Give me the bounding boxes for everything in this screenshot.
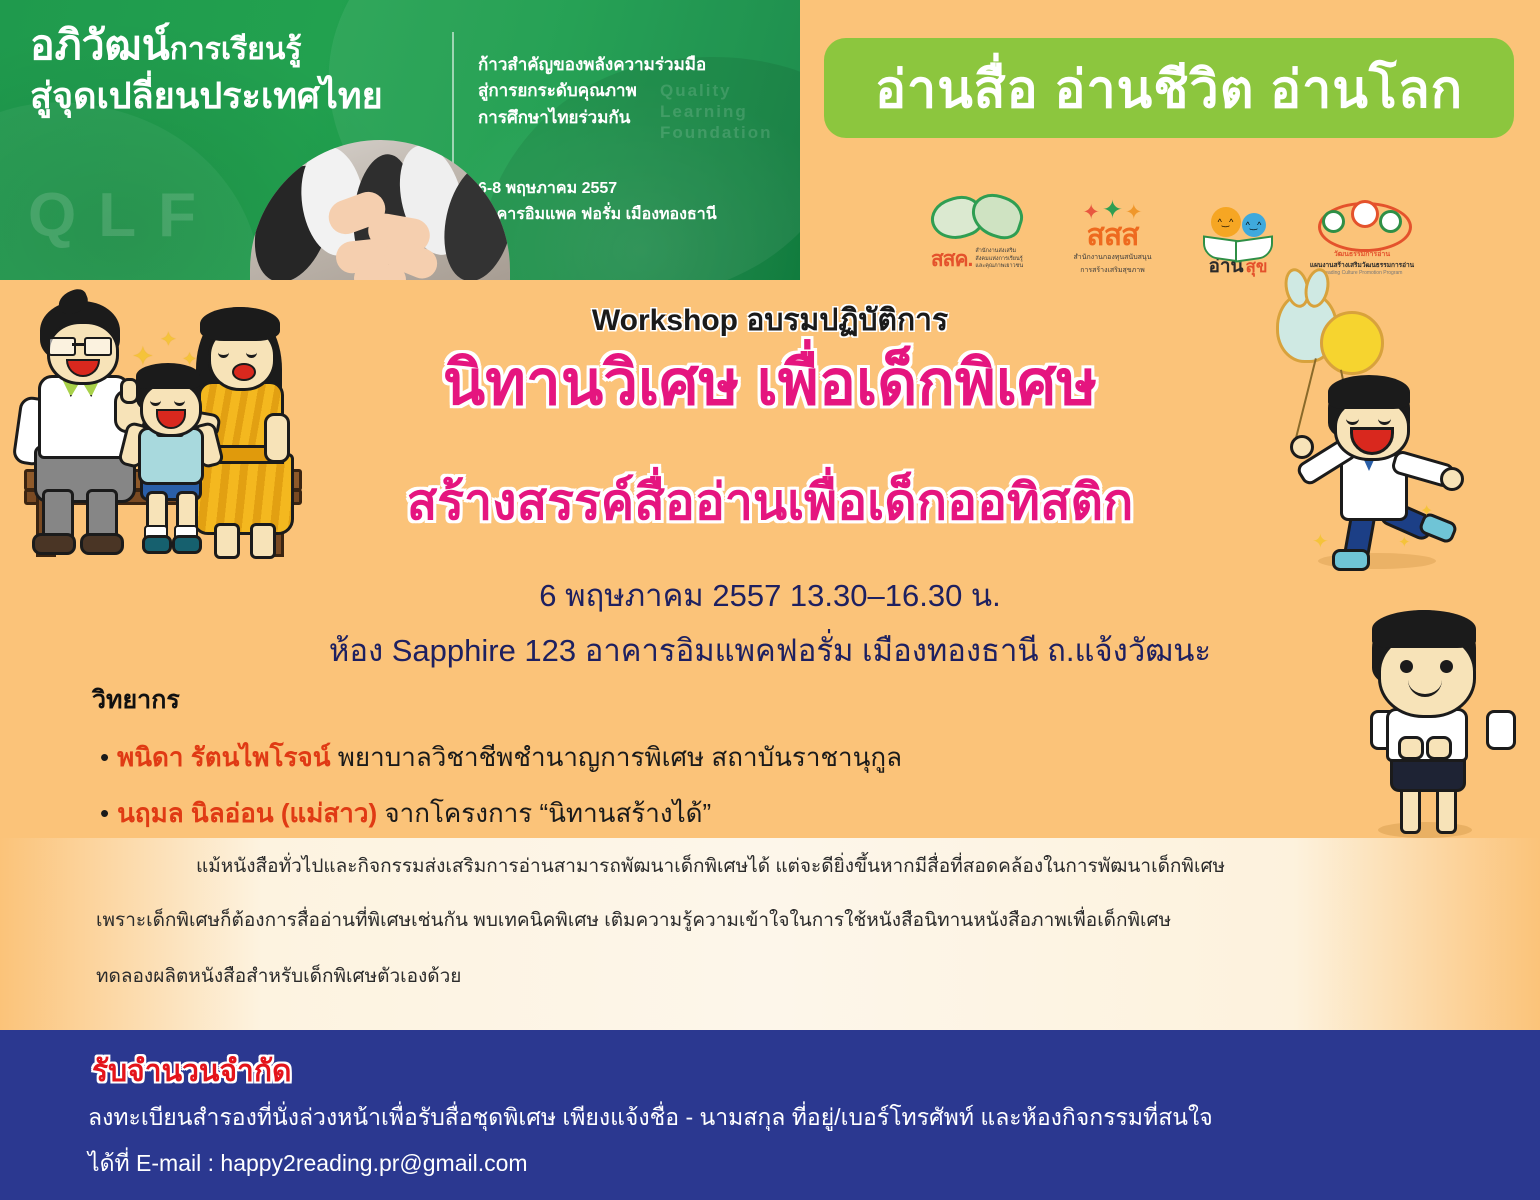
banner-title-line1-bold: อภิวัฒน์ xyxy=(30,22,170,68)
speaker-item: •นฤมล นิลอ่อน (แม่สาว) จากโครงการ “นิทาน… xyxy=(100,793,711,834)
banner-subtitle-block: ก้าวสำคัญของพลังความร่วมมือ สู่การยกระดั… xyxy=(478,52,706,131)
speaker-name: พนิดา รัตนไพโรจน์ xyxy=(117,742,330,772)
description-panel: แม้หนังสือทั่วไปและกิจกรรมส่งเสริมการอ่า… xyxy=(0,838,1540,1030)
description-line-2: เพราะเด็กพิเศษก็ต้องการสื่ออ่านที่พิเศษเ… xyxy=(96,910,1171,933)
registration-email-line[interactable]: ได้ที่ E-mail : happy2reading.pr@gmail.c… xyxy=(88,1146,528,1182)
banner-divider xyxy=(452,32,454,164)
banner-subtitle-line2: สู่การยกระดับคุณภาพ xyxy=(478,78,706,104)
banner-date-block: 6-8 พฤษภาคม 2557 อาคารอิมแพค ฟอรั่ม เมือ… xyxy=(478,176,717,227)
banner-subtitle-line3: การศึกษาไทยร่วมกัน xyxy=(478,105,706,131)
open-book-icon xyxy=(1203,238,1273,256)
banner-title-line1: อภิวัฒน์การเรียนรู้ xyxy=(30,20,450,71)
banner-title-line1-rest: การเรียนรู้ xyxy=(170,33,302,66)
banner-title-block: อภิวัฒน์การเรียนรู้ สู่จุดเปลี่ยนประเทศไ… xyxy=(30,20,450,118)
speaker-name: นฤมล นิลอ่อน (แม่สาว) xyxy=(117,798,377,828)
qlf-watermark-big: QLF xyxy=(28,180,218,251)
event-green-banner: QLF QualityLearningFoundation QualityLea… xyxy=(0,0,800,280)
logo-sss-abbr: สสส xyxy=(1055,221,1170,251)
logo-sasak: สสค. สำนักงานส่งเสริมสังคมแห่งการเรียนรู… xyxy=(918,193,1036,276)
page-title: นิทานวิเศษ เพื่อเด็กพิเศษ xyxy=(0,350,1540,418)
registration-footer: รับจำนวนจำกัด ลงทะเบียนสำรองที่นั่งล่วงห… xyxy=(0,1030,1540,1200)
logo-sasak-text: สำนักงานส่งเสริมสังคมแห่งการเรียนรู้และค… xyxy=(975,248,1023,272)
page-subtitle: สร้างสรรค์สื่ออ่านเพื่อเด็กออทิสติก xyxy=(0,475,1540,530)
sparkle-icon: ✦ xyxy=(1398,533,1411,551)
limited-seats-heading: รับจำนวนจำกัด xyxy=(92,1048,292,1095)
sun-flower-icon: ^‿^ ^‿^ xyxy=(1189,205,1287,237)
speaker-item: •พนิดา รัตนไพโรจน์ พยาบาลวิชาชีพชำนาญการ… xyxy=(100,737,902,778)
partner-logos-row: สสค. สำนักงานส่งเสริมสังคมแห่งการเรียนรู… xyxy=(918,168,1418,276)
speakers-heading: วิทยากร xyxy=(92,680,180,720)
banner-date: 6-8 พฤษภาคม 2557 xyxy=(478,176,717,202)
sparkle-icon: ✦ xyxy=(1312,529,1329,554)
banner-venue: อาคารอิมแพค ฟอรั่ม เมืองทองธานี xyxy=(478,202,717,228)
logo-sss-line1: สำนักงานกองทุนสนับสนุน xyxy=(1055,253,1170,264)
registration-instructions-line1: ลงทะเบียนสำรองที่นั่งล่วงหน้าเพื่อรับสื่… xyxy=(88,1100,1213,1136)
butterfly-icon xyxy=(931,193,1023,241)
description-line-1: แม้หนังสือทั่วไปและกิจกรรมส่งเสริมการอ่า… xyxy=(196,856,1225,879)
slogan-text: อ่านสื่อ อ่านชีวิต อ่านโลก xyxy=(875,47,1463,130)
banner-subtitle-line1: ก้าวสำคัญของพลังความร่วมมือ xyxy=(478,52,706,78)
slogan-banner: อ่านสื่อ อ่านชีวิต อ่านโลก xyxy=(824,38,1514,138)
family-reading-icon xyxy=(1314,198,1410,248)
logo-sasak-abbr: สสค. xyxy=(931,243,973,276)
bullet-icon: • xyxy=(100,798,109,828)
speaker-role: พยาบาลวิชาชีพชำนาญการพิเศษ สถาบันราชานุก… xyxy=(338,742,902,772)
bullet-icon: • xyxy=(100,742,109,772)
event-venue: ห้อง Sapphire 123 อาคารอิมแพคฟอรั่ม เมือ… xyxy=(0,625,1540,675)
header-region: QLF QualityLearningFoundation QualityLea… xyxy=(0,0,1540,285)
event-datetime: 6 พฤษภาคม 2557 13.30–16.30 น. xyxy=(0,570,1540,620)
logo-sss-line2: การสร้างเสริมสุขภาพ xyxy=(1055,266,1170,277)
banner-title-line2: สู่จุดเปลี่ยนประเทศไทย xyxy=(30,73,450,118)
logo-reading-culture: วัฒนธรรมการอ่าน แผนงานสร้างเสริมวัฒนธรรม… xyxy=(1306,198,1418,276)
workshop-label: Workshop อบรมปฏิบัติการ xyxy=(0,297,1540,344)
speaker-role: จากโครงการ “นิทานสร้างได้” xyxy=(384,798,711,828)
logo-sss: ✦ ✦ ✦ สสส สำนักงานกองทุนสนับสนุน การสร้า… xyxy=(1055,199,1170,276)
logo-aan-suk: ^‿^ ^‿^ อ่าน สุข xyxy=(1189,205,1287,276)
poster-root: QLF QualityLearningFoundation QualityLea… xyxy=(0,0,1540,1200)
description-line-3: ทดลองผลิตหนังสือสำหรับเด็กพิเศษตัวเองด้ว… xyxy=(96,966,461,989)
main-content-region: ✦ ✦ ✦ ✦ ✦ ✦ xyxy=(0,285,1540,1030)
